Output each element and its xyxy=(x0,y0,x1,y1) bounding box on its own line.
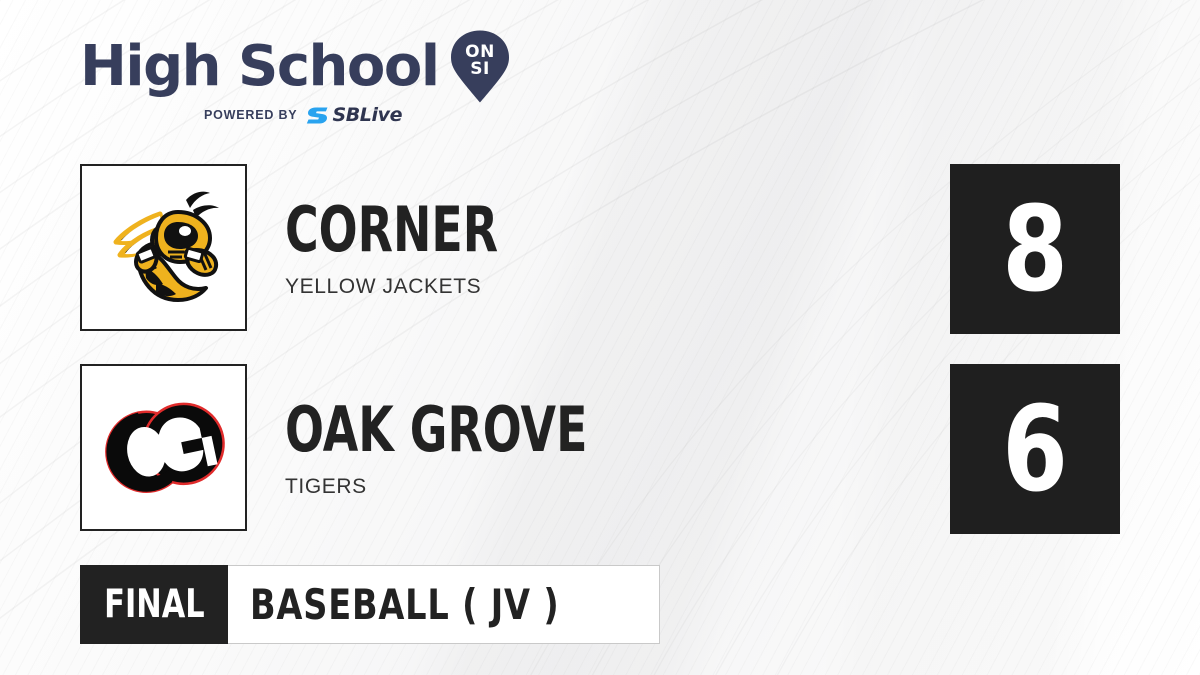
team-score: 6 xyxy=(1002,390,1068,508)
brand-header: High School ON SI POWERED BY SBLive xyxy=(80,34,640,134)
game-state-label: FINAL xyxy=(104,582,204,627)
scoreboard-graphic: High School ON SI POWERED BY SBLive xyxy=(0,0,1200,675)
svg-text:SI: SI xyxy=(470,59,490,79)
team-mascot: YELLOW JACKETS xyxy=(285,275,573,299)
powered-by-label: POWERED BY xyxy=(204,108,297,122)
team-logo-box xyxy=(80,164,247,331)
team-logo-box xyxy=(80,364,247,531)
team-score-box: 6 xyxy=(950,364,1120,534)
sport-badge: BASEBALL ( JV ) xyxy=(228,565,660,644)
team-identity: CORNER YELLOW JACKETS xyxy=(285,164,573,335)
yellow-jacket-mascot-icon xyxy=(100,184,228,312)
team-identity: OAK GROVE TIGERS xyxy=(285,364,694,535)
on-si-pin-icon: ON SI xyxy=(449,29,511,103)
sblive-bolt-icon xyxy=(306,106,330,125)
team-score: 8 xyxy=(1002,190,1068,308)
og-monogram-icon xyxy=(100,392,228,504)
sblive-logo: SBLive xyxy=(306,106,402,125)
brand-wordmark: High School xyxy=(80,39,439,95)
team-name: CORNER xyxy=(285,200,498,261)
status-bar: FINAL BASEBALL ( JV ) xyxy=(80,565,660,644)
powered-by-row: POWERED BY SBLive xyxy=(204,107,640,123)
team-name: OAK GROVE xyxy=(285,400,587,461)
team-row: CORNER YELLOW JACKETS 8 xyxy=(80,164,1120,335)
brand-wordmark-row: High School ON SI xyxy=(80,34,640,100)
team-score-box: 8 xyxy=(950,164,1120,334)
team-mascot: TIGERS xyxy=(285,475,694,499)
team-row: OAK GROVE TIGERS 6 xyxy=(80,364,1120,535)
game-state-badge: FINAL xyxy=(80,565,228,644)
sblive-wordmark: SBLive xyxy=(332,106,402,125)
sport-label: BASEBALL ( JV ) xyxy=(250,580,560,629)
